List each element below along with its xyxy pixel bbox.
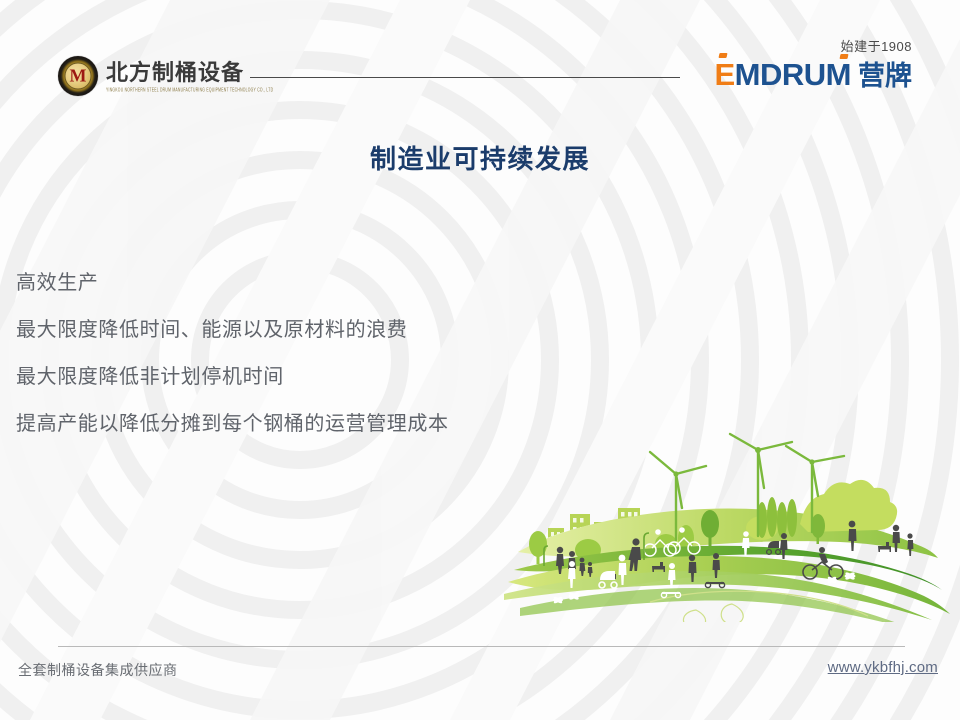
body-line-3: 最大限度降低非计划停机时间	[16, 367, 656, 387]
company-logo-left-text: 北方制桶设备 YINGKOU NORTHERN STEEL DRUM MANUF…	[106, 61, 273, 90]
company-logo-left: M 北方制桶设备 YINGKOU NORTHERN STEEL DRUM MAN…	[58, 56, 273, 96]
emdrum-letters-mdru: MDRU	[735, 59, 826, 90]
footer-website-link[interactable]: www.ykbfhj.com	[828, 659, 938, 676]
footer-tagline: 全套制桶设备集成供应商	[18, 660, 178, 680]
brand-logo-right: 始建于1908 E MDRU M 营牌	[714, 36, 912, 90]
emdrum-brand-cn: 营牌	[858, 63, 912, 90]
body-line-2: 最大限度降低时间、能源以及原材料的浪费	[16, 320, 656, 340]
body-line-1: 高效生产	[16, 273, 656, 293]
emdrum-letter-m: M	[826, 59, 851, 90]
slide-body-list: 高效生产 最大限度降低时间、能源以及原材料的浪费 最大限度降低非计划停机时间 提…	[16, 273, 656, 461]
emdrum-e-wrap: E	[714, 59, 734, 90]
slide-header: M 北方制桶设备 YINGKOU NORTHERN STEEL DRUM MAN…	[0, 0, 960, 115]
slide-title: 制造业可持续发展	[0, 139, 960, 176]
gold-emblem-icon: M	[58, 56, 98, 96]
company-name-cn: 北方制桶设备	[106, 61, 273, 84]
emdrum-wordmark: E MDRU M 营牌	[714, 59, 912, 90]
emdrum-letter-e: E	[714, 57, 734, 92]
emblem-letter: M	[70, 67, 87, 85]
footer-divider-line	[58, 646, 905, 647]
founded-year-label: 始建于1908	[714, 36, 912, 55]
header-divider-line	[250, 77, 680, 78]
body-line-4: 提高产能以降低分摊到每个钢桶的运营管理成本	[16, 414, 656, 434]
presentation-slide: M 北方制桶设备 YINGKOU NORTHERN STEEL DRUM MAN…	[0, 0, 960, 720]
company-name-en: YINGKOU NORTHERN STEEL DRUM MANUFACTURIN…	[106, 87, 273, 93]
